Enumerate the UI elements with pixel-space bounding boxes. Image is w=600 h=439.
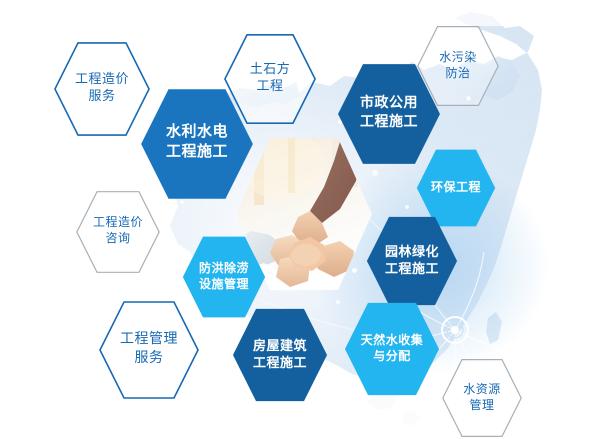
hexagon-engineering-cost-service[interactable]: 工程造价 服务 [54, 41, 150, 133]
hexagon-label: 天然水收集 与分配 [361, 332, 424, 364]
hexagon-label: 园林绿化 工程施工 [385, 243, 439, 278]
hexagon-label: 水利水电 工程施工 [166, 122, 228, 162]
infographic-canvas: 工程造价 服务土石方 工程水利水电 工程施工市政公用 工程施工水污染 防治环保工… [0, 0, 600, 439]
hexagon-engineering-cost-consulting[interactable]: 工程造价 咨询 [76, 190, 160, 270]
hexagon-label: 市政公用 工程施工 [360, 93, 418, 131]
hexagon-landscaping-engineering-construction[interactable]: 园林绿化 工程施工 [366, 215, 458, 305]
hexagon-label: 工程管理 服务 [120, 329, 178, 367]
hexagon-label: 防洪除涝 设施管理 [199, 260, 249, 292]
hexagon-water-resources-management[interactable]: 水资源 管理 [442, 358, 522, 436]
hexagon-building-construction-engineering[interactable]: 房屋建筑 工程施工 [232, 307, 328, 401]
hexagon-label: 工程造价 咨询 [93, 214, 143, 246]
hexagon-label: 水污染 防治 [439, 49, 477, 81]
hexagon-label: 房屋建筑 工程施工 [253, 337, 307, 372]
hexagon-water-conservancy-hydropower-construction[interactable]: 水利水电 工程施工 [140, 87, 254, 197]
hexagon-water-pollution-control[interactable]: 水污染 防治 [417, 25, 499, 105]
hexagon-engineering-management-service[interactable]: 工程管理 服务 [99, 300, 199, 396]
hexagon-label: 工程造价 服务 [75, 70, 129, 105]
hexagon-label: 水资源 管理 [463, 381, 501, 413]
hexagon-label: 环保工程 [431, 179, 481, 195]
hexagon-label: 土石方 工程 [250, 60, 291, 95]
hexagon-natural-water-collection-distribution[interactable]: 天然水收集 与分配 [344, 301, 440, 395]
